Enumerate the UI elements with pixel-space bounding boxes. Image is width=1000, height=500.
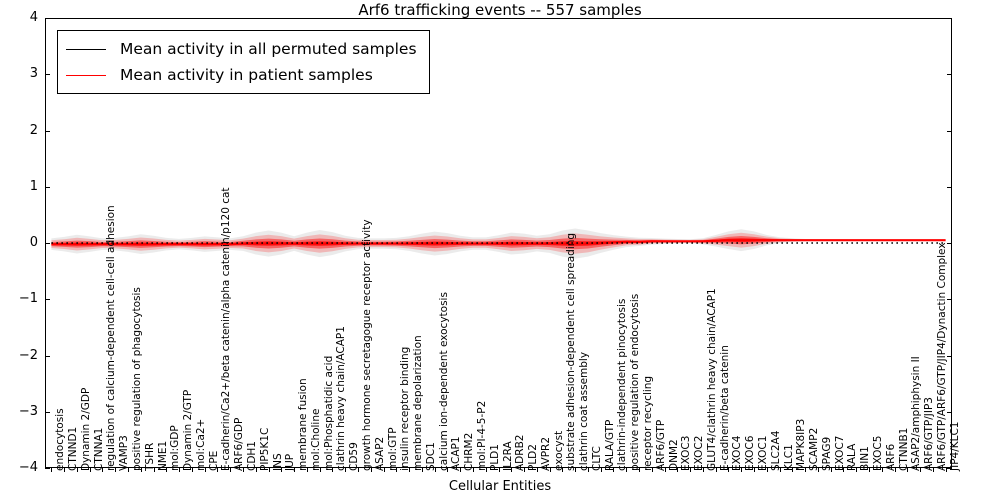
x-tick-mark-5	[115, 468, 116, 472]
x-tick-mark-4	[102, 468, 103, 472]
x-tick-mark-23	[345, 468, 346, 472]
x-tick-mark-46	[639, 468, 640, 472]
x-tick-mark-59	[805, 468, 806, 472]
x-tick-mark-69	[933, 468, 934, 472]
y-tick-label-7: −3	[0, 404, 38, 419]
x-tick-mark-68	[920, 468, 921, 472]
x-tick-mark-9	[166, 468, 167, 472]
x-tick-mark-52	[716, 468, 717, 472]
x-tick-mark-43	[601, 468, 602, 472]
legend-label-permuted: Mean activity in all permuted samples	[120, 40, 417, 58]
x-tick-mark-13	[217, 468, 218, 472]
x-tick-mark-6	[128, 468, 129, 472]
x-tick-mark-67	[907, 468, 908, 472]
x-tick-mark-2	[77, 468, 78, 472]
x-tick-mark-41	[575, 468, 576, 472]
x-tick-mark-1	[64, 468, 65, 472]
x-tick-mark-57	[780, 468, 781, 472]
x-tick-mark-53	[728, 468, 729, 472]
x-tick-mark-36	[511, 468, 512, 472]
x-tick-mark-12	[205, 468, 206, 472]
x-tick-mark-16	[256, 468, 257, 472]
x-tick-mark-22	[332, 468, 333, 472]
x-tick-mark-32	[460, 468, 461, 472]
x-tick-mark-0	[51, 468, 52, 472]
y-tick-label-1: 3	[0, 66, 38, 81]
x-tick-mark-39	[550, 468, 551, 472]
x-tick-mark-51	[703, 468, 704, 472]
x-tick-mark-7	[141, 468, 142, 472]
y-tick-label-4: 0	[0, 235, 38, 250]
x-tick-mark-37	[524, 468, 525, 472]
x-tick-mark-33	[473, 468, 474, 472]
y-tick-label-6: −2	[0, 348, 38, 363]
y-tick-mark-8	[45, 468, 50, 469]
x-tick-mark-58	[792, 468, 793, 472]
x-tick-mark-62	[843, 468, 844, 472]
x-tick-mark-20	[307, 468, 308, 472]
x-tick-mark-21	[320, 468, 321, 472]
legend-label-patient: Mean activity in patient samples	[120, 66, 373, 84]
x-tick-mark-8	[154, 468, 155, 472]
y-tick-label-0: 4	[0, 10, 38, 25]
y-tick-label-3: 1	[0, 179, 38, 194]
x-tick-mark-28	[409, 468, 410, 472]
y-tick-mark-right-8	[947, 468, 952, 469]
y-tick-label-8: −4	[0, 460, 38, 475]
x-tick-mark-29	[422, 468, 423, 472]
x-tick-mark-55	[754, 468, 755, 472]
x-tick-mark-31	[447, 468, 448, 472]
x-tick-mark-25	[371, 468, 372, 472]
x-tick-mark-40	[562, 468, 563, 472]
chart-title: Arf6 trafficking events -- 557 samples	[0, 1, 1000, 19]
x-tick-mark-34	[486, 468, 487, 472]
x-tick-mark-70	[946, 468, 947, 472]
chart-legend: Mean activity in all permuted samples Me…	[57, 30, 430, 94]
x-tick-mark-48	[665, 468, 666, 472]
x-tick-mark-54	[741, 468, 742, 472]
x-tick-mark-11	[192, 468, 193, 472]
x-tick-mark-42	[588, 468, 589, 472]
x-tick-mark-65	[882, 468, 883, 472]
chart-root: Arf6 trafficking events -- 557 samples I…	[0, 0, 1000, 500]
x-tick-mark-14	[230, 468, 231, 472]
x-tick-mark-15	[243, 468, 244, 472]
x-tick-mark-17	[269, 468, 270, 472]
x-tick-mark-50	[690, 468, 691, 472]
x-tick-mark-66	[895, 468, 896, 472]
legend-swatch-permuted	[66, 49, 106, 50]
x-tick-mark-18	[281, 468, 282, 472]
x-tick-mark-38	[537, 468, 538, 472]
x-tick-mark-27	[396, 468, 397, 472]
x-tick-mark-60	[818, 468, 819, 472]
y-tick-label-2: 2	[0, 123, 38, 138]
x-tick-mark-19	[294, 468, 295, 472]
x-tick-mark-47	[652, 468, 653, 472]
x-tick-mark-35	[499, 468, 500, 472]
x-tick-mark-61	[831, 468, 832, 472]
y-tick-label-5: −1	[0, 291, 38, 306]
legend-swatch-patient	[66, 75, 106, 76]
x-tick-mark-30	[435, 468, 436, 472]
legend-entry-patient: Mean activity in patient samples	[66, 62, 417, 88]
x-tick-mark-49	[677, 468, 678, 472]
x-tick-mark-3	[90, 468, 91, 472]
x-tick-mark-10	[179, 468, 180, 472]
x-axis-label: Cellular Entities	[0, 479, 1000, 494]
x-tick-mark-63	[856, 468, 857, 472]
x-tick-mark-24	[358, 468, 359, 472]
x-tick-mark-56	[767, 468, 768, 472]
x-tick-mark-44	[613, 468, 614, 472]
x-tick-mark-45	[626, 468, 627, 472]
legend-entry-permuted: Mean activity in all permuted samples	[66, 36, 417, 62]
x-tick-mark-64	[869, 468, 870, 472]
x-tick-mark-26	[384, 468, 385, 472]
